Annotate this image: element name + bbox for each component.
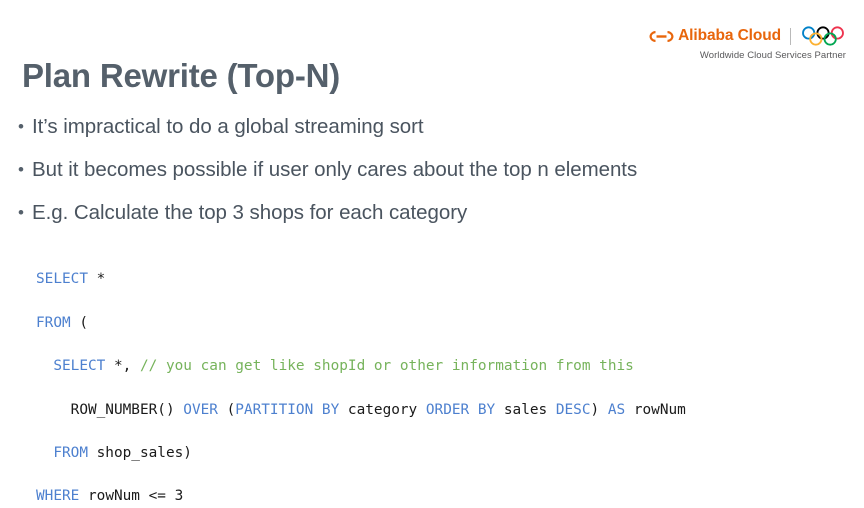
- list-item: • But it becomes possible if user only c…: [18, 155, 844, 185]
- bullet-text: But it becomes possible if user only car…: [32, 155, 637, 185]
- bullet-marker-icon: •: [18, 198, 32, 228]
- bullet-text: E.g. Calculate the top 3 shops for each …: [32, 198, 467, 228]
- page-title: Plan Rewrite (Top-N): [22, 58, 340, 94]
- code-token-pln: [36, 445, 53, 461]
- code-token-pln: ): [591, 402, 608, 418]
- code-token-kw: PARTITION BY: [235, 402, 339, 418]
- brand-lockup: Alibaba Cloud Worldwide Cloud Services P…: [649, 26, 846, 61]
- code-line: SELECT *, // you can get like shopId or …: [36, 356, 686, 378]
- bullet-marker-icon: •: [18, 112, 32, 142]
- code-line: SELECT *: [36, 269, 686, 291]
- code-token-pln: rowNum: [625, 402, 686, 418]
- code-token-kw: AS: [608, 402, 625, 418]
- code-token-pln: rowNum <= 3: [79, 488, 183, 504]
- code-token-cmt: // you can get like shopId or other info…: [140, 358, 634, 374]
- code-line: FROM (: [36, 313, 686, 335]
- list-item: • E.g. Calculate the top 3 shops for eac…: [18, 198, 844, 228]
- brand-divider: [790, 28, 791, 45]
- code-token-pln: [36, 358, 53, 374]
- sql-code-block: SELECT * FROM ( SELECT *, // you can get…: [36, 269, 686, 508]
- alibaba-cloud-glyph-icon: [649, 29, 674, 44]
- brand-wordmark: Alibaba Cloud: [678, 28, 781, 44]
- code-token-kw: ORDER BY: [426, 402, 495, 418]
- code-token-kw: FROM: [53, 445, 88, 461]
- code-token-kw: FROM: [36, 315, 71, 331]
- bullet-text: It’s impractical to do a global streamin…: [32, 112, 424, 142]
- code-line: WHERE rowNum <= 3: [36, 486, 686, 508]
- code-token-kw: SELECT: [36, 271, 88, 287]
- code-token-kw: WHERE: [36, 488, 79, 504]
- code-line: ROW_NUMBER() OVER (PARTITION BY category…: [36, 400, 686, 422]
- code-token-pln: (: [71, 315, 88, 331]
- bullet-list: • It’s impractical to do a global stream…: [18, 112, 844, 241]
- alibaba-cloud-logo: Alibaba Cloud: [649, 28, 781, 44]
- code-token-kw: DESC: [556, 402, 591, 418]
- code-token-pln: shop_sales): [88, 445, 192, 461]
- code-token-kw: OVER: [183, 402, 218, 418]
- bullet-marker-icon: •: [18, 155, 32, 185]
- code-token-kw: SELECT: [53, 358, 105, 374]
- olympic-rings-icon: [800, 26, 846, 46]
- code-token-pln: (: [218, 402, 235, 418]
- code-token-pln: sales: [495, 402, 556, 418]
- code-token-pln: category: [339, 402, 426, 418]
- code-line: FROM shop_sales): [36, 443, 686, 465]
- code-token-pln: *: [88, 271, 105, 287]
- code-token-pln: ROW_NUMBER(): [36, 402, 183, 418]
- code-token-pln: *,: [105, 358, 140, 374]
- list-item: • It’s impractical to do a global stream…: [18, 112, 844, 142]
- brand-tagline: Worldwide Cloud Services Partner: [649, 50, 846, 61]
- brand-row: Alibaba Cloud: [649, 26, 846, 46]
